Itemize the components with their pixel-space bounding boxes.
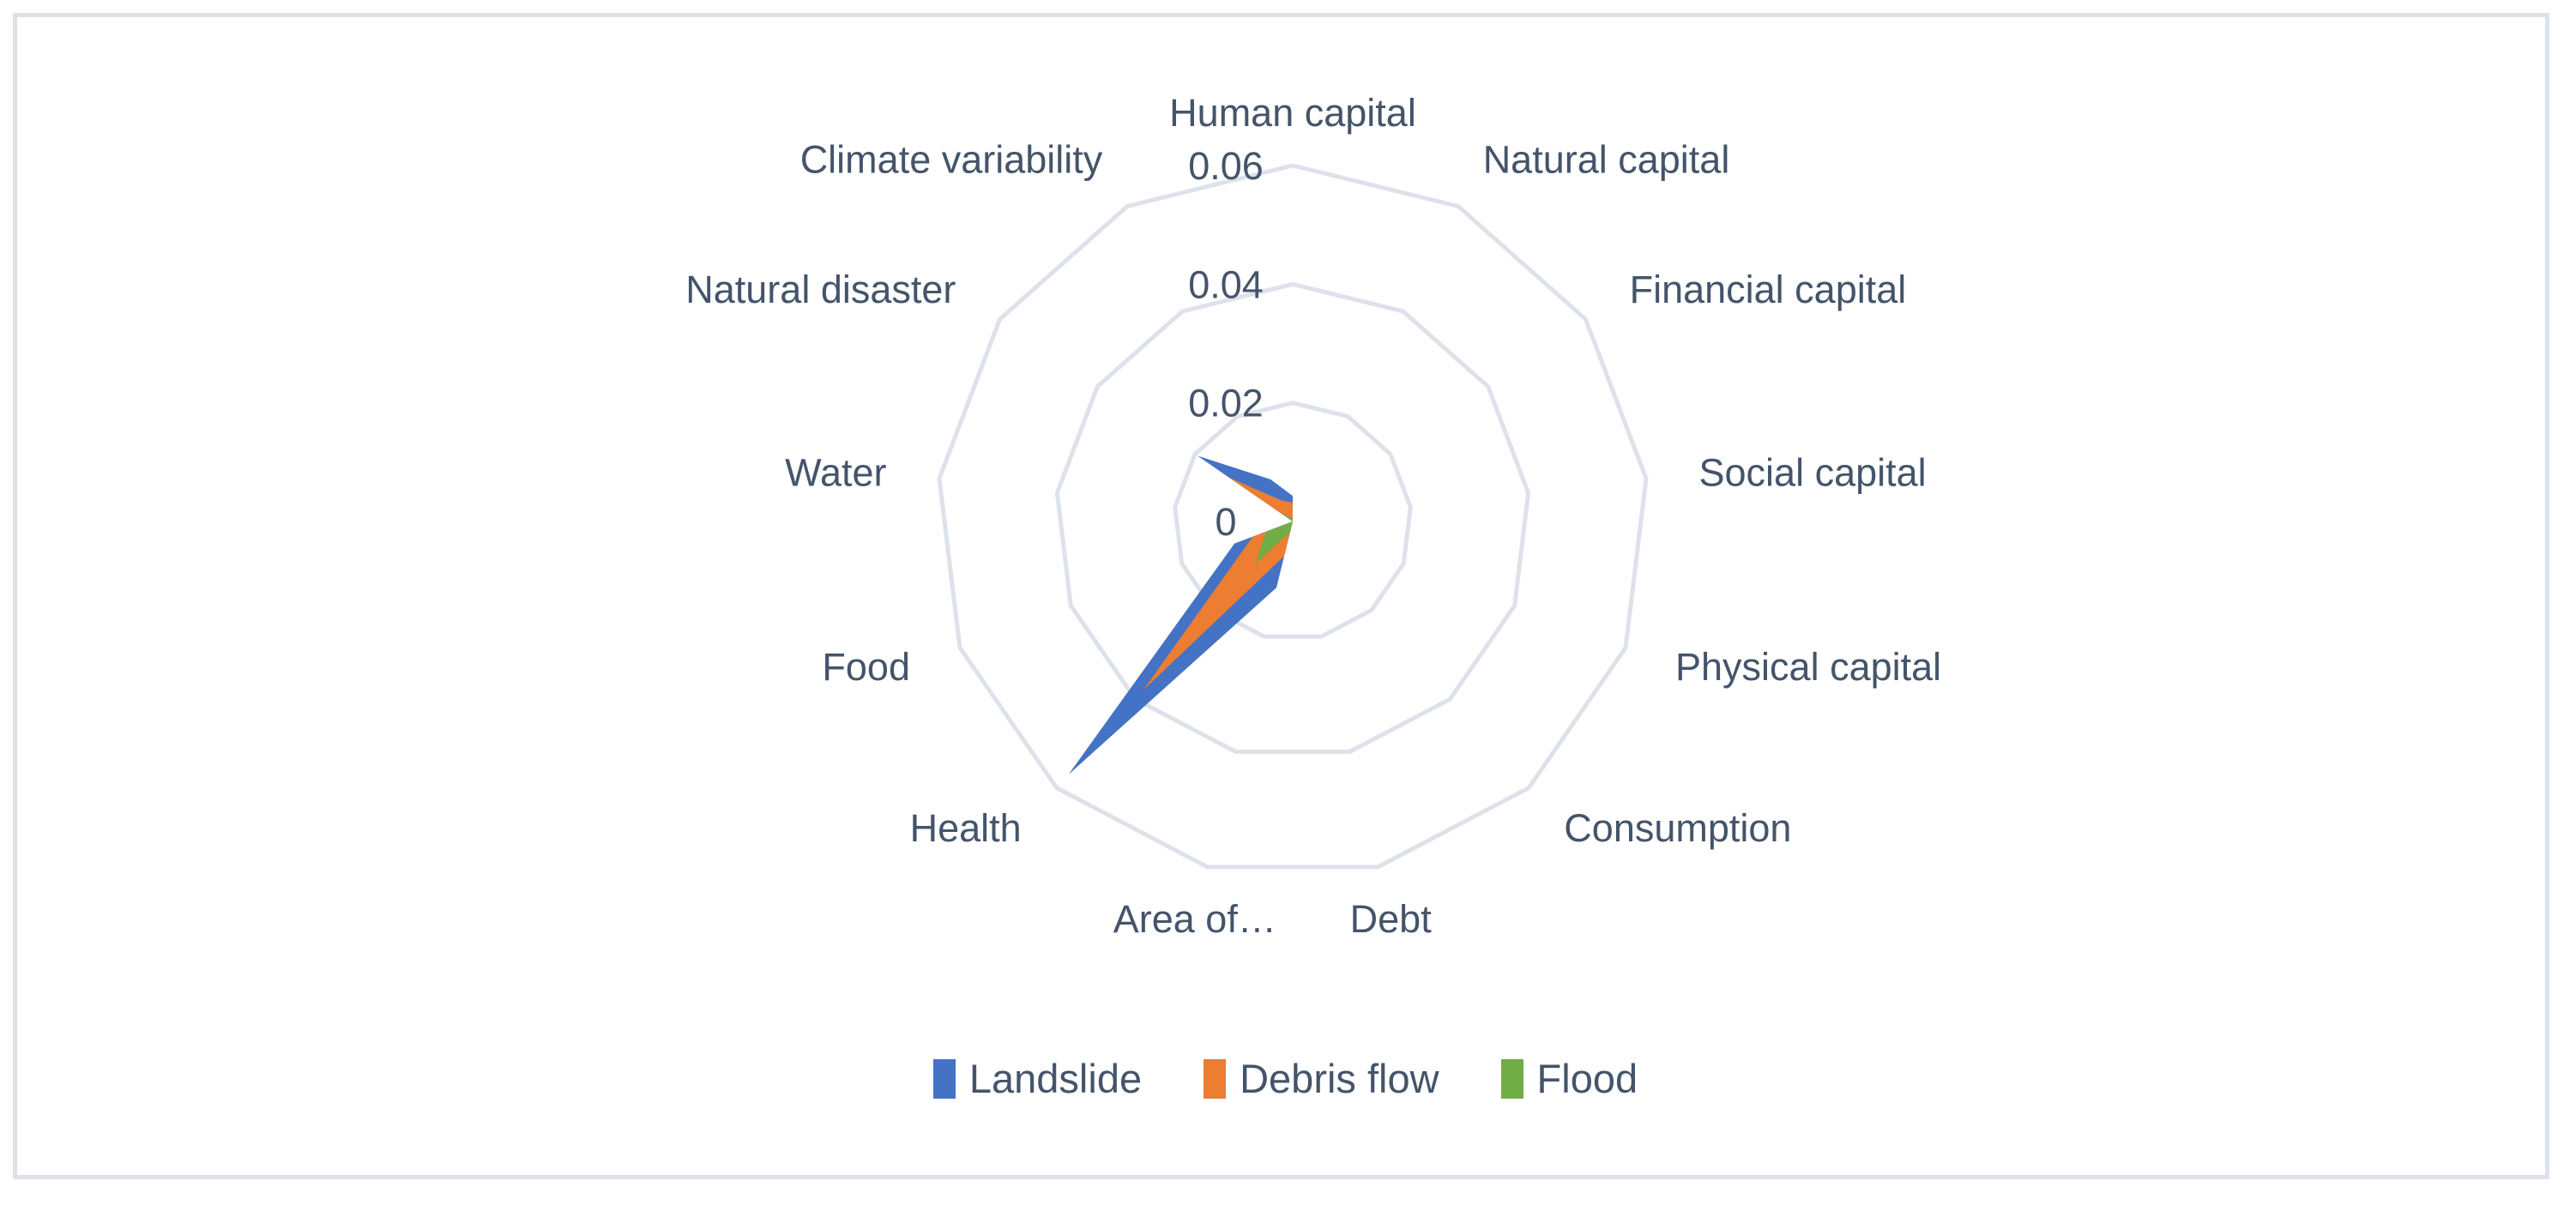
axis-label-natural-capital: Natural capital [1483, 138, 1730, 182]
axis-label-debt: Debt [1350, 897, 1433, 941]
legend-swatch-icon [1501, 1059, 1523, 1099]
axis-label-human-capital: Human capital [1169, 91, 1416, 135]
axis-label-water: Water [785, 451, 886, 495]
radar-chart-plot: Human capitalNatural capitalFinancial ca… [17, 17, 2554, 1184]
legend-item-flood[interactable]: Flood [1501, 1055, 1638, 1102]
legend-label: Debris flow [1240, 1055, 1439, 1102]
legend-swatch-icon [1204, 1059, 1226, 1099]
legend-label: Flood [1537, 1055, 1638, 1102]
axis-label-food: Food [822, 645, 910, 689]
radial-tick-label-0-02: 0.02 [1188, 382, 1264, 425]
radial-tick-label-0: 0 [1215, 500, 1236, 544]
chart-frame: Human capitalNatural capitalFinancial ca… [13, 13, 2549, 1179]
axis-label-climate-variability: Climate variability [800, 138, 1103, 182]
axis-label-consumption: Consumption [1564, 806, 1791, 850]
legend-item-landslide[interactable]: Landslide [933, 1055, 1142, 1102]
radar-series-areas [1069, 455, 1293, 774]
axis-label-area-of: Area of… [1113, 897, 1276, 941]
chart-legend: LandslideDebris flowFlood [17, 1055, 2554, 1102]
axis-label-physical-capital: Physical capital [1675, 645, 1941, 689]
legend-swatch-icon [933, 1059, 956, 1099]
legend-item-debris-flow[interactable]: Debris flow [1204, 1055, 1439, 1102]
axis-label-natural-disaster: Natural disaster [685, 268, 956, 311]
radial-tick-label-0-06: 0.06 [1188, 144, 1264, 188]
radial-tick-label-0-04: 0.04 [1188, 262, 1264, 306]
series-area-landslide [1069, 455, 1293, 774]
radar-axis-labels: Human capitalNatural capitalFinancial ca… [685, 91, 1941, 941]
legend-label: Landslide [969, 1055, 1142, 1102]
axis-label-health: Health [910, 806, 1022, 850]
axis-label-financial-capital: Financial capital [1630, 268, 1907, 311]
axis-label-social-capital: Social capital [1699, 451, 1927, 495]
